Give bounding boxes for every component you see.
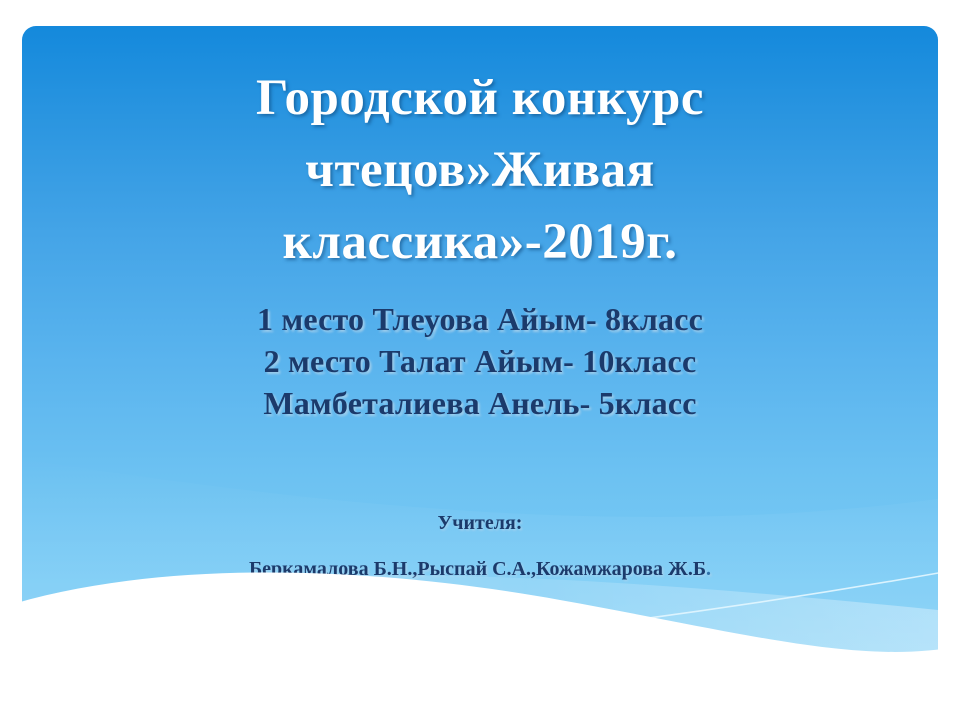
credits-names: Беркамалова Б.Н.,Рыспай С.А.,Кожамжарова… — [40, 552, 920, 586]
winner-line-1: 1 место Тлеуова Айым- 8класс — [60, 298, 900, 340]
credits-names-tail: . — [706, 558, 711, 580]
title-line-3: классика»-2019г. — [60, 206, 900, 278]
margin-left — [0, 0, 22, 720]
credits-names-text: Беркамалова Б.Н.,Рыспай С.А.,Кожамжарова… — [249, 558, 706, 580]
slide-title: Городской конкурс чтецов»Живая классика»… — [60, 62, 900, 278]
title-line-2: чтецов»Живая — [60, 134, 900, 206]
slide-credits: Учителя: Беркамалова Б.Н.,Рыспай С.А.,Ко… — [40, 508, 920, 586]
margin-right — [938, 0, 960, 720]
slide-subtitle-winners: 1 место Тлеуова Айым- 8класс 2 место Тал… — [60, 298, 900, 424]
winner-line-2: 2 место Талат Айым- 10класс — [60, 340, 900, 382]
margin-top — [0, 0, 960, 26]
title-line-1: Городской конкурс — [60, 62, 900, 134]
winner-line-3: Мамбеталиева Анель- 5класс — [60, 382, 900, 424]
slide-canvas: Городской конкурс чтецов»Живая классика»… — [0, 0, 960, 720]
margin-bottom — [0, 676, 960, 720]
credits-heading: Учителя: — [40, 508, 920, 538]
